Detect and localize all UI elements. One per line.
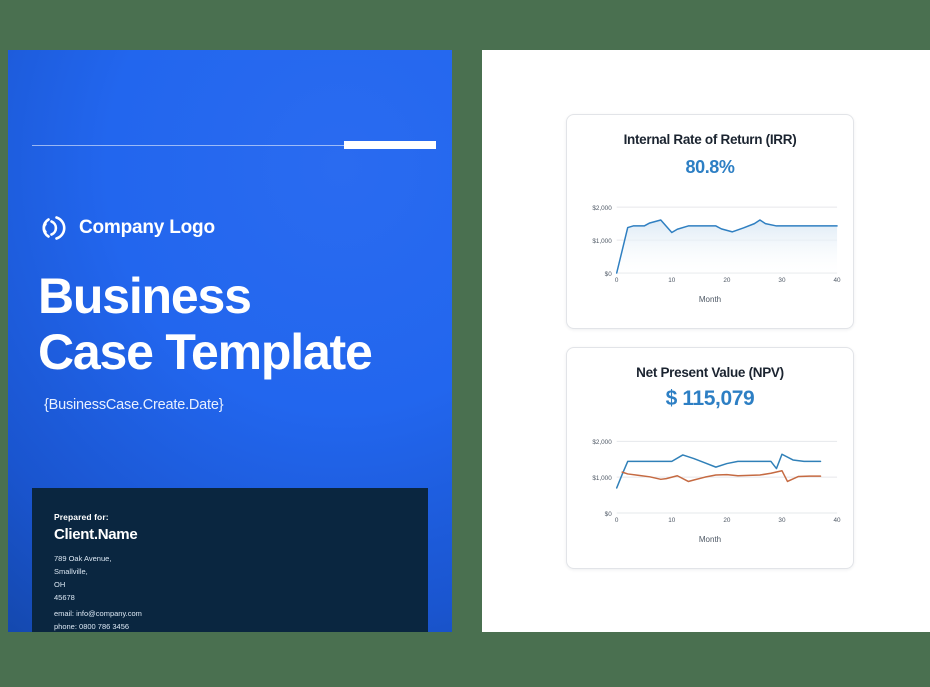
svg-text:40: 40 xyxy=(834,277,842,284)
svg-text:0: 0 xyxy=(615,277,619,284)
npv-chart-card: Net Present Value (NPV) $ 115,079 $0$1,0… xyxy=(566,347,854,569)
irr-chart-card: Internal Rate of Return (IRR) 80.8% $0$1… xyxy=(566,114,854,329)
svg-text:$0: $0 xyxy=(605,271,613,278)
client-contact: email: info@company.com phone: 0800 786 … xyxy=(54,608,142,632)
client-address: 789 Oak Avenue, Smallville, OH 45678 xyxy=(54,553,111,605)
svg-text:10: 10 xyxy=(668,517,676,524)
svg-text:30: 30 xyxy=(778,517,786,524)
npv-x-axis-label: Month xyxy=(567,535,853,544)
irr-x-axis-label: Month xyxy=(567,295,853,304)
svg-text:$2,000: $2,000 xyxy=(592,205,612,212)
contact-email: email: info@company.com xyxy=(54,608,142,621)
svg-text:$1,000: $1,000 xyxy=(592,475,612,482)
svg-text:$1,000: $1,000 xyxy=(592,238,612,245)
address-line: 45678 xyxy=(54,592,111,605)
svg-text:$0: $0 xyxy=(605,511,613,518)
svg-text:20: 20 xyxy=(723,277,731,284)
company-logo-text: Company Logo xyxy=(79,217,215,239)
svg-text:$2,000: $2,000 xyxy=(592,439,612,446)
document-date-placeholder: {BusinessCase.Create.Date} xyxy=(44,397,223,413)
irr-plot-svg: $0$1,000$2,000010203040 xyxy=(577,188,843,293)
address-line: 789 Oak Avenue, xyxy=(54,553,111,566)
npv-plot: $0$1,000$2,000010203040 xyxy=(577,421,843,533)
irr-card-title: Internal Rate of Return (IRR) xyxy=(567,132,853,147)
cover-page: Company Logo Business Case Template {Bus… xyxy=(8,50,452,632)
irr-card-value: 80.8% xyxy=(567,157,853,178)
page-title-line-1: Business xyxy=(38,268,438,324)
cover-header-rule-cap xyxy=(344,141,436,149)
address-line: OH xyxy=(54,579,111,592)
irr-plot: $0$1,000$2,000010203040 xyxy=(577,188,843,293)
prepared-for-panel: Prepared for: Client.Name 789 Oak Avenue… xyxy=(32,488,428,632)
contact-phone: phone: 0800 786 3456 xyxy=(54,621,142,632)
npv-card-value: $ 115,079 xyxy=(567,387,853,411)
svg-text:0: 0 xyxy=(615,517,619,524)
svg-text:30: 30 xyxy=(778,277,786,284)
client-name: Client.Name xyxy=(54,526,137,543)
address-line: Smallville, xyxy=(54,566,111,579)
page-title-line-2: Case Template xyxy=(38,324,438,380)
prepared-for-label: Prepared for: xyxy=(54,512,109,522)
company-swirl-logo-icon xyxy=(36,212,68,244)
svg-text:40: 40 xyxy=(834,517,842,524)
company-logo: Company Logo xyxy=(36,212,215,244)
report-page: Internal Rate of Return (IRR) 80.8% $0$1… xyxy=(482,50,930,632)
svg-text:20: 20 xyxy=(723,517,731,524)
svg-text:10: 10 xyxy=(668,277,676,284)
npv-plot-svg: $0$1,000$2,000010203040 xyxy=(577,421,843,533)
page-title: Business Case Template xyxy=(38,268,438,380)
npv-card-title: Net Present Value (NPV) xyxy=(567,365,853,380)
